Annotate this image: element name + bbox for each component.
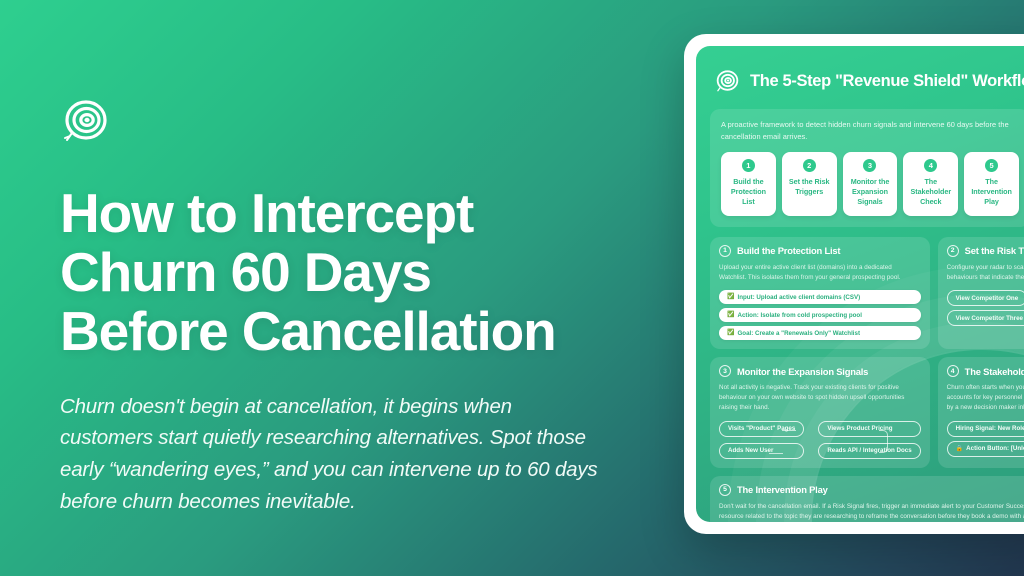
detail-card-body: Upload your entire active client list (d… [719, 263, 921, 283]
detail-card-header: 1 Build the Protection List [719, 245, 921, 257]
flow-connector-icon [782, 430, 796, 431]
chip-label: Action: Isolate from cold prospecting po… [737, 312, 861, 319]
detail-card-header: 5 The Intervention Play [719, 484, 1024, 496]
chip-action-isolate[interactable]: ✅ Action: Isolate from cold prospecting … [719, 308, 921, 322]
check-icon: ✅ [727, 294, 734, 300]
page-title: How to Intercept Churn 60 Days Before Ca… [60, 184, 640, 361]
step-overview-item-3[interactable]: 3 Monitor the Expansion Signals [843, 152, 898, 216]
check-icon: ✅ [727, 330, 734, 336]
flow-connector-icon [879, 430, 888, 453]
detail-card-step-2: 2 Set the Risk Triggers Configure your r… [938, 237, 1024, 349]
step-number-badge: 2 [947, 245, 959, 257]
step-overview-item-4[interactable]: 4 The Stakeholder Check [903, 152, 958, 216]
workflow-card: The 5-Step "Revenue Shield" Workflow A p… [696, 46, 1024, 522]
chip-view-competitor-one[interactable]: View Competitor One [947, 290, 1024, 306]
chip-goal-watchlist[interactable]: ✅ Goal: Create a "Renewals Only" Watchli… [719, 326, 921, 340]
chip-adds-new-user[interactable]: Adds New User [719, 443, 804, 459]
workflow-intro-block: A proactive framework to detect hidden c… [710, 109, 1024, 227]
chip-label: Goal: Create a "Renewals Only" Watchlist [737, 330, 860, 337]
headline-line-3: Before Cancellation [60, 302, 640, 361]
hero-left-panel: How to Intercept Churn 60 Days Before Ca… [60, 96, 640, 518]
step-overview-row: 1 Build the Protection List 2 Set the Ri… [721, 152, 1019, 216]
detail-card-body: Don't wait for the cancellation email. I… [719, 502, 1024, 522]
chip-action-unlock-contact[interactable]: 🔒 Action Button: [Unlock Contact Details… [947, 441, 1024, 457]
detail-card-step-3: 3 Monitor the Expansion Signals Not all … [710, 357, 930, 468]
step-number-badge: 1 [742, 159, 755, 172]
headline-line-2: Churn 60 Days [60, 243, 640, 302]
spiral-onion-logo-icon [714, 68, 741, 95]
check-icon: ✅ [727, 312, 734, 318]
step-2-chip-list: View Competitor One View Competitor Two … [947, 290, 1024, 326]
step-4-chip-list: Hiring Signal: New Role for VP of Market… [947, 421, 1024, 457]
workflow-card-header: The 5-Step "Revenue Shield" Workflow [714, 68, 1024, 95]
lock-icon: 🔒 [956, 446, 963, 452]
step-overview-label: The Stakeholder Check [906, 177, 955, 208]
step-number-badge: 5 [985, 159, 998, 172]
headline-line-1: How to Intercept [60, 184, 640, 243]
step-overview-label: Monitor the Expansion Signals [846, 177, 895, 208]
detail-card-body: Churn often starts when your Champion le… [947, 383, 1024, 414]
detail-card-body: Configure your radar to scan your client… [947, 263, 1024, 283]
step-overview-label: The Intervention Play [967, 177, 1016, 208]
step-overview-item-5[interactable]: 5 The Intervention Play [964, 152, 1019, 216]
detail-card-title: Set the Risk Triggers [965, 245, 1024, 256]
detail-card-step-5: 5 The Intervention Play Don't wait for t… [710, 476, 1024, 522]
step-number-badge: 3 [719, 365, 731, 377]
chip-row: View Competitor Three Topic: "Price Comp… [947, 310, 1024, 326]
workflow-intro-text: A proactive framework to detect hidden c… [721, 119, 1019, 143]
detail-card-title: The Stakeholder Check [965, 366, 1024, 377]
chip-views-product-pricing[interactable]: Views Product Pricing [818, 421, 920, 437]
step-1-chip-list: ✅ Input: Upload active client domains (C… [719, 290, 921, 340]
step-overview-item-2[interactable]: 2 Set the Risk Triggers [782, 152, 837, 216]
step-number-badge: 3 [863, 159, 876, 172]
detail-card-title: Monitor the Expansion Signals [737, 366, 868, 377]
spiral-onion-logo-icon [60, 96, 112, 148]
step-3-flow-diagram: Visits "Product" Pages Views Product Pri… [719, 421, 921, 459]
detail-card-header: 3 Monitor the Expansion Signals [719, 365, 921, 377]
step-number-badge: 1 [719, 245, 731, 257]
page-subtitle: Churn doesn't begin at cancellation, it … [60, 391, 600, 518]
step-number-badge: 4 [947, 365, 959, 377]
detail-card-header: 2 Set the Risk Triggers [947, 245, 1024, 257]
step-number-badge: 4 [924, 159, 937, 172]
detail-card-header: 4 The Stakeholder Check [947, 365, 1024, 377]
detail-card-body: Not all activity is negative. Track your… [719, 383, 921, 414]
detail-card-step-1: 1 Build the Protection List Upload your … [710, 237, 930, 349]
chip-row: View Competitor One View Competitor Two [947, 290, 1024, 306]
detail-card-title: The Intervention Play [737, 484, 828, 495]
flow-connector-icon [769, 453, 783, 454]
chip-visits-product-pages[interactable]: Visits "Product" Pages [719, 421, 804, 437]
chip-label: Input: Upload active client domains (CSV… [737, 294, 860, 301]
workflow-detail-grid: 1 Build the Protection List Upload your … [710, 237, 1024, 522]
step-overview-item-1[interactable]: 1 Build the Protection List [721, 152, 776, 216]
chip-view-competitor-three[interactable]: View Competitor Three [947, 310, 1024, 326]
chip-hiring-signal[interactable]: Hiring Signal: New Role for VP of Market… [947, 421, 1024, 437]
step-number-badge: 2 [803, 159, 816, 172]
chip-label: Action Button: [Unlock Contact Details] [966, 445, 1024, 452]
chip-input-upload[interactable]: ✅ Input: Upload active client domains (C… [719, 290, 921, 304]
step-number-badge: 5 [719, 484, 731, 496]
chip-reads-api-docs[interactable]: Reads API / Integration Docs [818, 443, 920, 459]
workflow-card-frame: The 5-Step "Revenue Shield" Workflow A p… [684, 34, 1024, 534]
step-overview-label: Build the Protection List [724, 177, 773, 208]
detail-card-title: Build the Protection List [737, 245, 840, 256]
step-overview-label: Set the Risk Triggers [785, 177, 834, 197]
workflow-card-title: The 5-Step "Revenue Shield" Workflow [750, 72, 1024, 91]
detail-card-step-4: 4 The Stakeholder Check Churn often star… [938, 357, 1024, 468]
